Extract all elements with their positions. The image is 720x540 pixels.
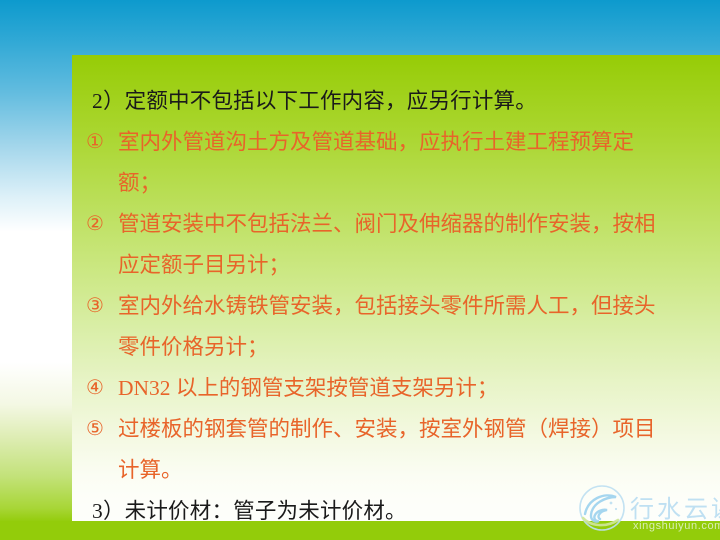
heading-level-1-first: 2）定额中不包括以下工作内容，应另行计算。 (86, 81, 706, 122)
list-item-text: 过楼板的钢套管的制作、安装，按室外钢管（焊接）项目计算。 (118, 409, 676, 491)
heading-level-1-second: 3）未计价材：管子为未计价材。 (86, 491, 706, 532)
list-item-text: 室内外管道沟土方及管道基础，应执行土建工程预算定额； (118, 122, 676, 204)
slide-canvas: 2）定额中不包括以下工作内容，应另行计算。 ① 室内外管道沟土方及管道基础，应执… (0, 0, 720, 540)
list-item: ① 室内外管道沟土方及管道基础，应执行土建工程预算定额； (86, 122, 706, 204)
list-item-text: 管道安装中不包括法兰、阀门及伸缩器的制作安装，按相应定额子目另计； (118, 204, 676, 286)
content-panel: 2）定额中不包括以下工作内容，应另行计算。 ① 室内外管道沟土方及管道基础，应执… (72, 55, 720, 521)
list-item: ② 管道安装中不包括法兰、阀门及伸缩器的制作安装，按相应定额子目另计； (86, 204, 706, 286)
list-marker-icon: ① (86, 122, 118, 163)
list-item: ④ DN32 以上的钢管支架按管道支架另计； (86, 368, 706, 409)
list-marker-icon: ④ (86, 368, 118, 409)
list-item: ③ 室内外给水铸铁管安装，包括接头零件所需人工，但接头零件价格另计； (86, 286, 706, 368)
list-marker-icon: ③ (86, 286, 118, 327)
list-item: ⑤ 过楼板的钢套管的制作、安装，按室外钢管（焊接）项目计算。 (86, 409, 706, 491)
list-marker-icon: ② (86, 204, 118, 245)
list-item-text: 室内外给水铸铁管安装，包括接头零件所需人工，但接头零件价格另计； (118, 286, 676, 368)
list-marker-icon: ⑤ (86, 409, 118, 450)
list-item-text: DN32 以上的钢管支架按管道支架另计； (118, 368, 676, 409)
